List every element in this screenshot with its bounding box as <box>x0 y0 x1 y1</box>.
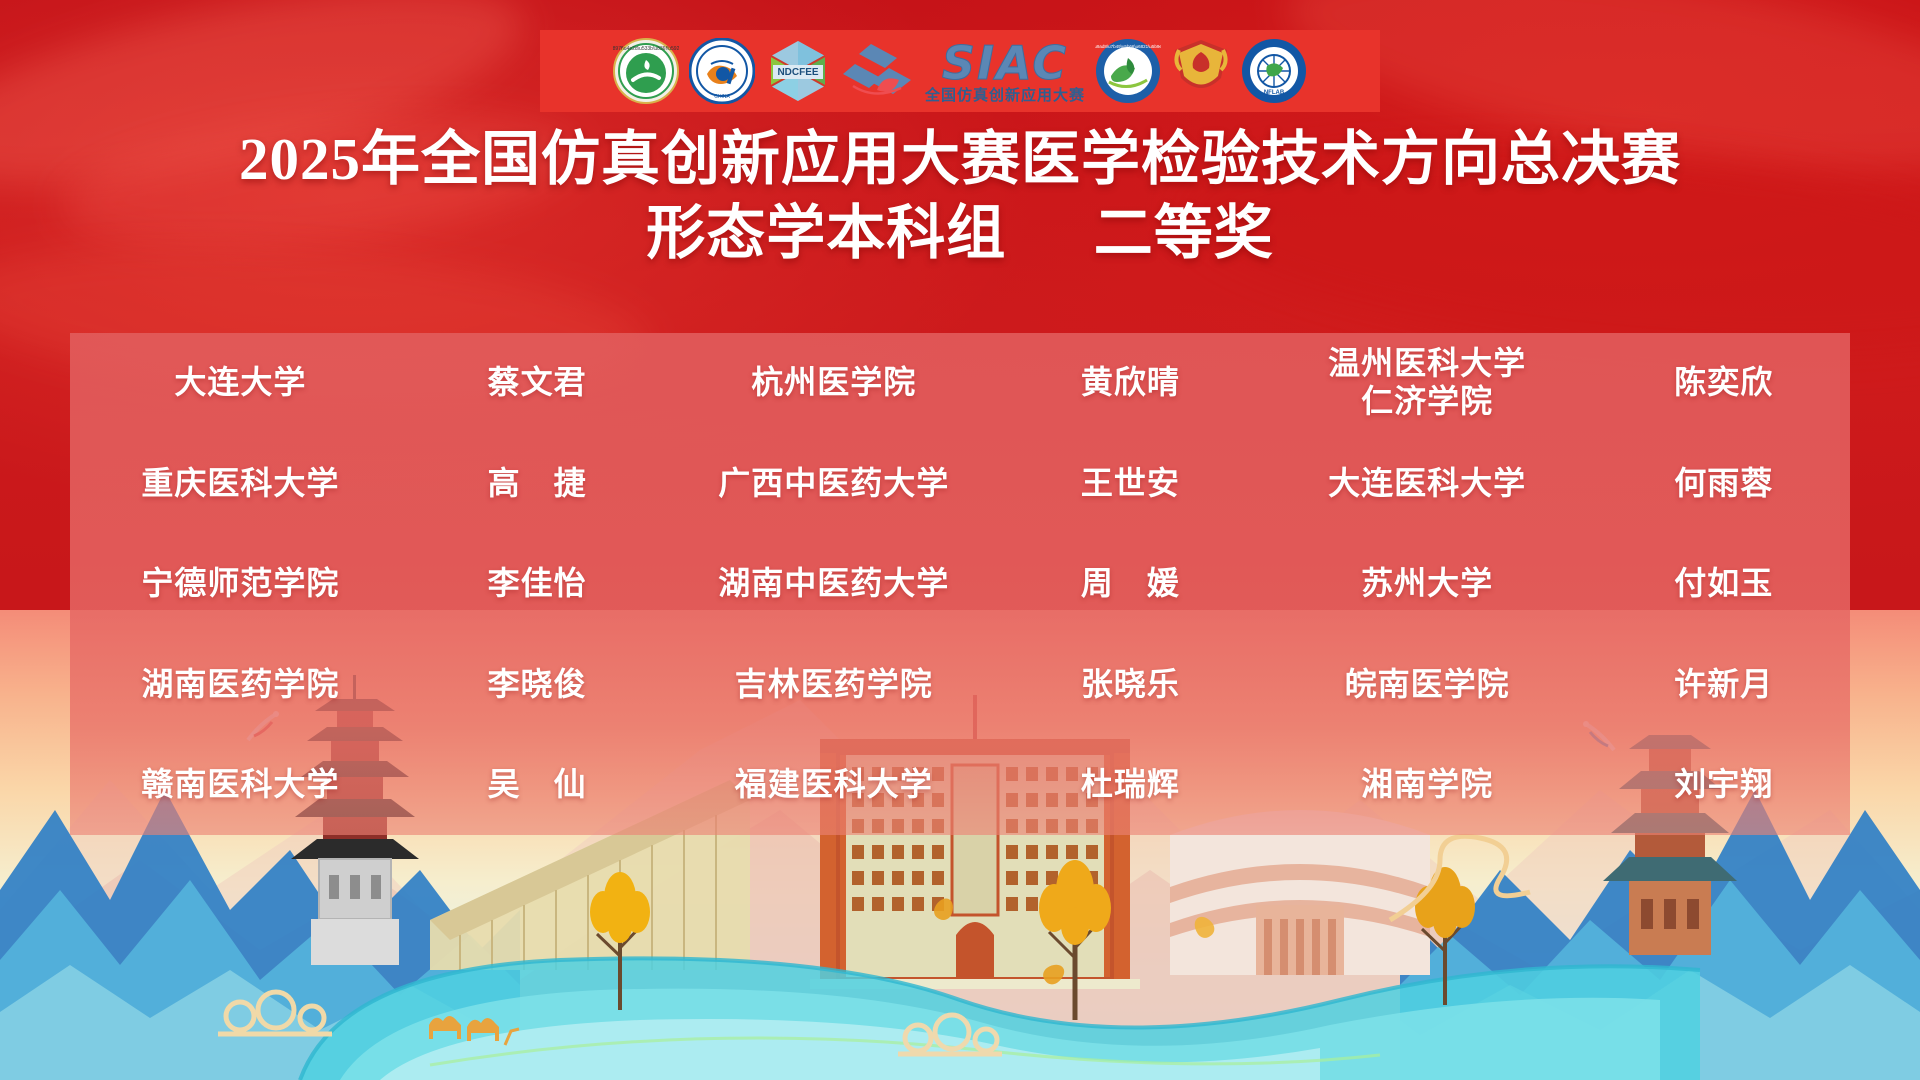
table-cell-school: 大连大学 <box>70 333 411 433</box>
poster-title: 2025年全国仿真创新应用大赛医学检验技术方向总决赛 形态学本科组 二等奖 <box>0 128 1920 266</box>
table-cell-school: 福建医科大学 <box>663 735 1004 835</box>
svg-text:NFLAB: NFLAB <box>1264 90 1285 96</box>
auspicious-cloud <box>890 1006 1010 1062</box>
logo-green-emblem: \u5168\u56fd\u9ad8\u7b49\u5b66\u6821\u5b… <box>1095 38 1161 104</box>
table-cell-name: 高 捷 <box>411 433 663 533</box>
ginkgo-tree <box>575 860 665 1010</box>
table-cell-name: 蔡文君 <box>411 333 663 433</box>
table-cell-name: 付如玉 <box>1598 534 1850 634</box>
poster-stage: \u5e7f\u897f\u4e2d\u533b\u836f\u5927\u5b… <box>0 0 1920 1080</box>
table-cell-school: 湘南学院 <box>1257 735 1598 835</box>
table-cell-name: 张晓乐 <box>1004 634 1256 734</box>
table-cell-name: 李佳怡 <box>411 534 663 634</box>
svg-text:CHINA: CHINA <box>714 94 730 100</box>
title-line-1: 2025年全国仿真创新应用大赛医学检验技术方向总决赛 <box>0 128 1920 192</box>
table-cell-name: 黄欣晴 <box>1004 333 1256 433</box>
table-cell-school: 杭州医学院 <box>663 333 1004 433</box>
table-cell-school: 宁德师范学院 <box>70 534 411 634</box>
table-cell-name: 陈奕欣 <box>1598 333 1850 433</box>
svg-text:NDCFEE: NDCFEE <box>777 67 818 78</box>
sponsor-logo-bar: \u5e7f\u897f\u4e2d\u533b\u836f\u5927\u5b… <box>540 30 1380 112</box>
title-group-label: 形态学本科组 <box>646 200 1006 266</box>
camel-caravan <box>415 995 535 1055</box>
table-cell-name: 杜瑞辉 <box>1004 735 1256 835</box>
award-grid: 大连大学 蔡文君 杭州医学院 黄欣晴 温州医科大学 仁济学院 陈奕欣 重庆医科大… <box>70 333 1850 835</box>
table-cell-name: 许新月 <box>1598 634 1850 734</box>
table-cell-name: 何雨蓉 <box>1598 433 1850 533</box>
table-cell-school: 广西中医药大学 <box>663 433 1004 533</box>
table-cell-school: 苏州大学 <box>1257 534 1598 634</box>
logo-gold-crest <box>1171 38 1231 104</box>
table-cell-name: 吴 仙 <box>411 735 663 835</box>
siac-wordmark-text: SIAC <box>942 40 1068 86</box>
auspicious-cloud <box>210 982 340 1042</box>
table-cell-school: 重庆医科大学 <box>70 433 411 533</box>
svg-text:\u5e7f\u897f\u4e2d\u533b\u836f: \u5e7f\u897f\u4e2d\u533b\u836f\u5927\u5b… <box>613 46 679 52</box>
table-cell-school: 湖南中医药大学 <box>663 534 1004 634</box>
logo-ndcfee: NDCFEE <box>765 38 831 104</box>
table-cell-name: 李晓俊 <box>411 634 663 734</box>
logo-siac-mark <box>841 38 915 104</box>
table-cell-school: 吉林医药学院 <box>663 634 1004 734</box>
table-cell-name: 周 媛 <box>1004 534 1256 634</box>
ginkgo-tree <box>1025 850 1125 1020</box>
logo-national-medical-laboratory-alliance: CHINA <box>689 38 755 104</box>
auspicious-cloud-ribbon <box>1380 820 1550 930</box>
table-cell-school: 皖南医学院 <box>1257 634 1598 734</box>
award-list-panel: 大连大学 蔡文君 杭州医学院 黄欣晴 温州医科大学 仁济学院 陈奕欣 重庆医科大… <box>70 333 1850 835</box>
logo-guangxi-university-of-chinese-medicine: \u5e7f\u897f\u4e2d\u533b\u836f\u5927\u5b… <box>613 38 679 104</box>
siac-subtitle-text: 全国仿真创新应用大赛 <box>925 88 1085 103</box>
logo-siac-wordmark: SIAC 全国仿真创新应用大赛 <box>925 40 1085 103</box>
logo-nflab: NFLAB <box>1241 38 1307 104</box>
svg-text:\u5168\u56fd\u9ad8\u7b49\u5b66: \u5168\u56fd\u9ad8\u7b49\u5b66\u6821\u5b… <box>1095 44 1161 49</box>
title-award-label: 二等奖 <box>1094 200 1274 266</box>
table-cell-name: 刘宇翔 <box>1598 735 1850 835</box>
table-cell-school: 温州医科大学 仁济学院 <box>1257 333 1598 433</box>
title-line-2: 形态学本科组 二等奖 <box>0 200 1920 266</box>
table-cell-name: 王世安 <box>1004 433 1256 533</box>
table-cell-school: 赣南医科大学 <box>70 735 411 835</box>
table-cell-school: 大连医科大学 <box>1257 433 1598 533</box>
table-cell-school: 湖南医药学院 <box>70 634 411 734</box>
